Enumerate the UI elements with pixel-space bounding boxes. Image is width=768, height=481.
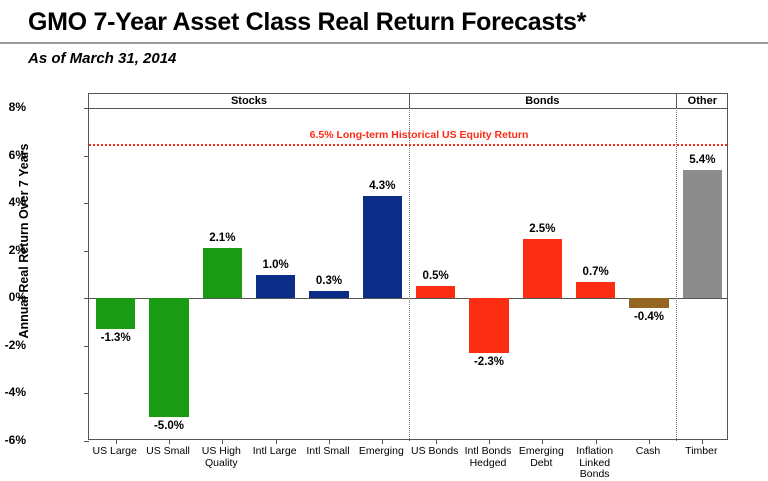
y-axis-tick-mark [84, 203, 89, 204]
x-axis-category-label: US Small [141, 446, 194, 458]
y-axis-tick-label: 2% [0, 243, 26, 257]
x-axis-category-label: Cash [621, 446, 674, 458]
bar-value-label: -0.4% [622, 311, 675, 323]
x-axis-tick-mark [649, 439, 650, 444]
reference-line-label: 6.5% Long-term Historical US Equity Retu… [310, 129, 529, 141]
x-axis-category-label: Emerging Debt [515, 446, 568, 469]
y-axis-tick-label: 0% [0, 290, 26, 304]
bar [469, 298, 508, 353]
x-axis-category-label: US Bonds [408, 446, 461, 458]
group-header-rule [89, 108, 727, 109]
x-axis-tick-mark [382, 439, 383, 444]
chart-plot-area: 6.5% Long-term Historical US Equity Retu… [88, 93, 728, 440]
bar [96, 298, 135, 329]
bar-value-label: 5.4% [676, 154, 729, 166]
x-axis-tick-mark [276, 439, 277, 444]
group-divider-head [676, 94, 677, 108]
group-divider [409, 94, 410, 441]
bar [629, 298, 668, 308]
reference-line [89, 144, 727, 146]
group-header-other: Other [676, 94, 729, 108]
x-axis-category-label: Intl Small [301, 446, 354, 458]
bar-value-label: 0.7% [569, 266, 622, 278]
y-axis-tick-mark [84, 108, 89, 109]
x-axis-tick-mark [542, 439, 543, 444]
y-axis-tick-mark [84, 251, 89, 252]
x-axis-tick-mark [596, 439, 597, 444]
bar [363, 196, 402, 298]
x-axis-category-label: US High Quality [195, 446, 248, 469]
bar-value-label: 2.1% [196, 232, 249, 244]
bar [523, 239, 562, 298]
bar [149, 298, 188, 417]
x-axis-tick-mark [222, 439, 223, 444]
bar [203, 248, 242, 298]
y-axis-title: Annual Real Return Over 7 Years [17, 143, 31, 338]
x-axis-tick-mark [436, 439, 437, 444]
x-axis-category-label: Intl Large [248, 446, 301, 458]
y-axis-tick-mark [84, 156, 89, 157]
group-header-bonds: Bonds [409, 94, 676, 108]
y-axis-tick-mark [84, 298, 89, 299]
x-axis-tick-mark [116, 439, 117, 444]
x-axis-category-label: Inflation Linked Bonds [568, 446, 621, 481]
bar [309, 291, 348, 298]
title-divider [0, 42, 768, 44]
x-axis-category-label: Intl Bonds Hedged [461, 446, 514, 469]
x-axis-tick-mark [169, 439, 170, 444]
y-axis-tick-label: -6% [0, 433, 26, 447]
y-axis-tick-label: 4% [0, 195, 26, 209]
y-axis-tick-mark [84, 441, 89, 442]
bar-value-label: 0.5% [409, 270, 462, 282]
x-axis-category-label: US Large [88, 446, 141, 458]
page-subtitle: As of March 31, 2014 [28, 50, 176, 67]
group-header-stocks: Stocks [89, 94, 409, 108]
bar [576, 282, 615, 299]
bar-value-label: 4.3% [356, 180, 409, 192]
bar-value-label: -2.3% [462, 356, 515, 368]
bar-value-label: -5.0% [142, 420, 195, 432]
bar-value-label: 1.0% [249, 259, 302, 271]
y-axis-tick-mark [84, 393, 89, 394]
group-divider [676, 94, 677, 441]
page-title: GMO 7-Year Asset Class Real Return Forec… [28, 8, 586, 37]
bar [256, 275, 295, 299]
x-axis-category-label: Timber [675, 446, 728, 458]
y-axis-tick-label: -4% [0, 385, 26, 399]
y-axis-tick-label: -2% [0, 338, 26, 352]
bar [683, 170, 722, 298]
y-axis-tick-label: 6% [0, 148, 26, 162]
bar-value-label: -1.3% [89, 332, 142, 344]
group-divider-head [409, 94, 410, 108]
x-axis-tick-mark [489, 439, 490, 444]
bar [416, 286, 455, 298]
x-axis-tick-mark [702, 439, 703, 444]
x-axis-category-label: Emerging [355, 446, 408, 458]
y-axis-tick-label: 8% [0, 100, 26, 114]
bar-value-label: 0.3% [302, 275, 355, 287]
y-axis-tick-mark [84, 346, 89, 347]
x-axis-tick-mark [329, 439, 330, 444]
bar-value-label: 2.5% [516, 223, 569, 235]
